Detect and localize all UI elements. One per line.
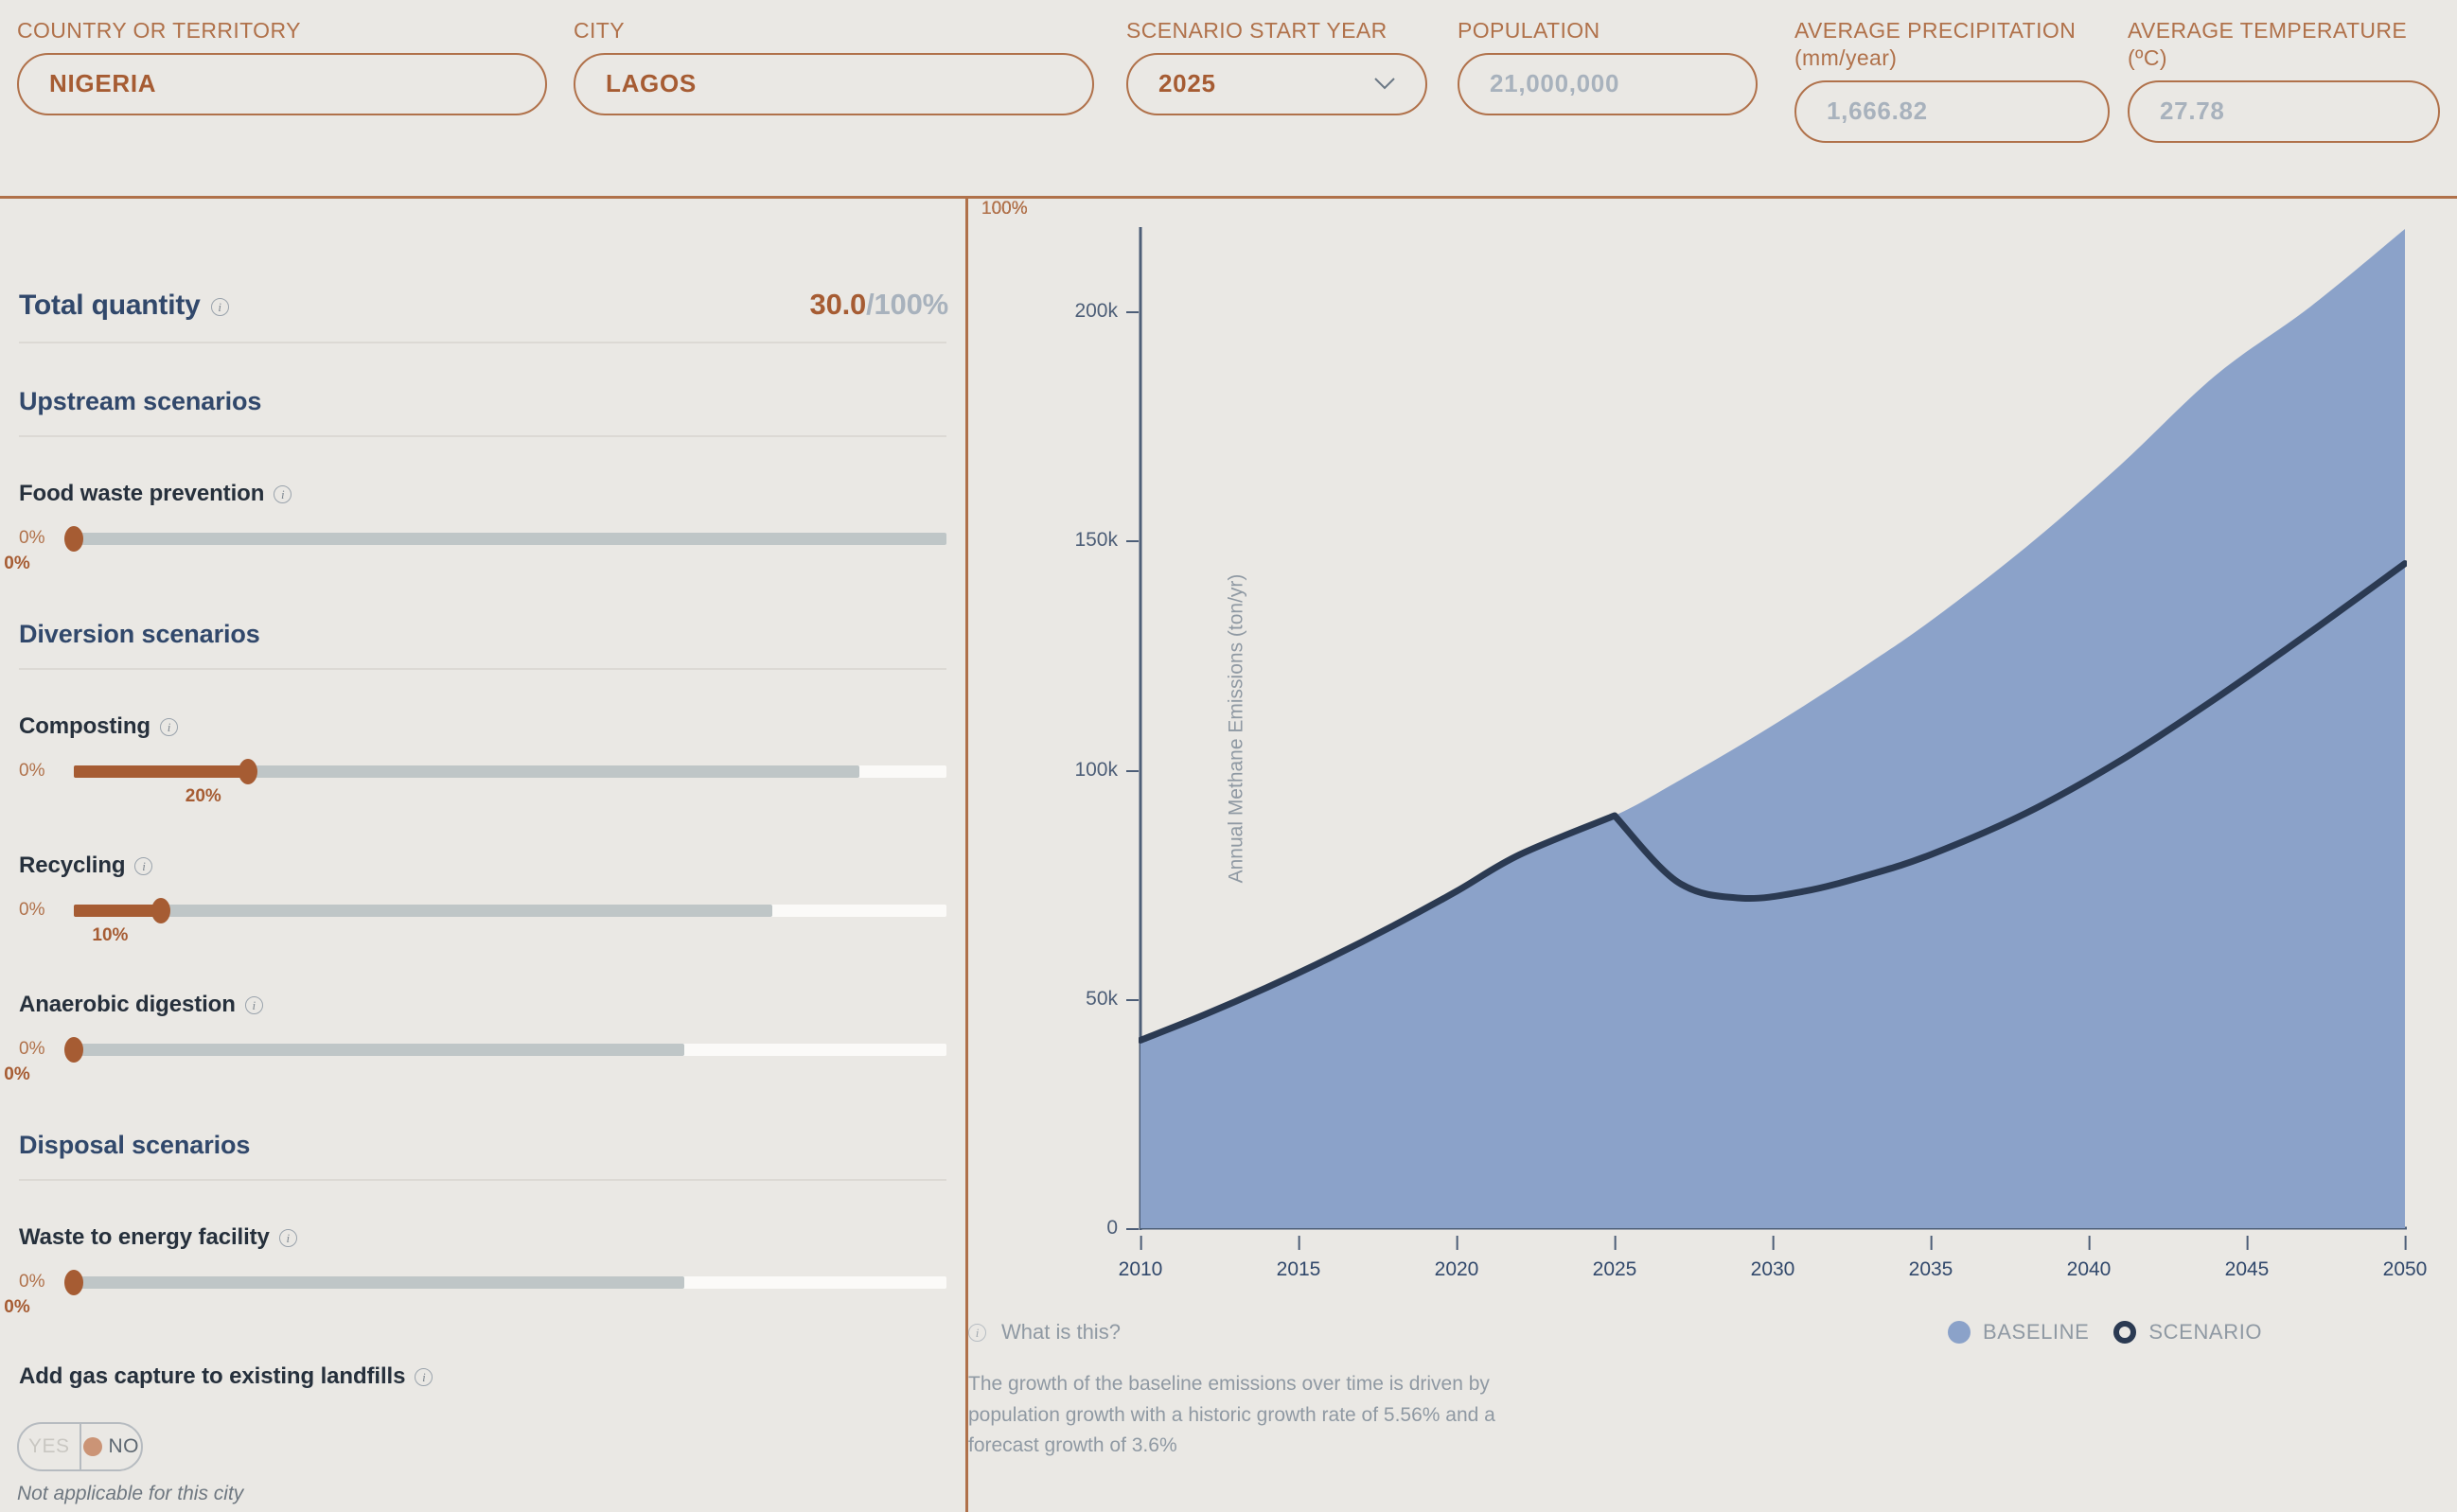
gas-capture-yes-label: YES [28,1435,70,1458]
field-average-temperature: AVERAGE TEMPERATURE (ºC) 27.78 [2128,17,2440,143]
y-tick-label: 0 [1106,1217,1139,1239]
slider-label-text: Recycling [19,853,125,879]
chart-plot-area: Annual Methane Emissions (ton/yr) 050k10… [1139,227,2407,1230]
x-tick-label: 2050 [2383,1258,2428,1281]
slider-value-recycling: 10% [17,925,948,948]
slider-label-anaerobic-digestion: Anaerobic digestion i [19,992,948,1018]
country-value: NIGERIA [49,69,156,98]
slider-track-available [74,1044,684,1056]
chart-legend: BASELINE SCENARIO [1948,1320,2262,1345]
slider-label-waste-to-energy-facility: Waste to energy facility i [19,1224,948,1251]
gas-capture-label-text: Add gas capture to existing landfills [19,1363,405,1390]
total-quantity-max: /100% [866,288,948,321]
field-label-average-temperature: AVERAGE TEMPERATURE (ºC) [2128,17,2440,72]
slider-waste-to-energy-facility[interactable]: 0% 100% [17,1272,948,1292]
field-city: CITY LAGOS [574,17,1094,115]
slider-anaerobic-digestion[interactable]: 0% 100% [17,1039,948,1060]
slider-track-available [74,1276,684,1289]
y-tick-label: 150k [1074,529,1139,552]
legend-label-baseline: BASELINE [1983,1320,2089,1345]
y-tick-label: 100k [1074,759,1139,782]
slider-track-fill [74,905,161,917]
city-value: LAGOS [606,69,697,98]
scenario-controls-panel: Total quantity i 30.0/100% Upstream scen… [0,199,965,1512]
divider [19,435,946,437]
total-quantity-label: Total quantity [19,290,201,322]
chart-explanation-block: i What is this? The growth of the baseli… [968,1320,1631,1462]
legend-label-scenario: SCENARIO [2148,1320,2262,1345]
population-value: 21,000,000 [1490,69,1619,98]
field-population: POPULATION 21,000,000 [1458,17,1758,115]
what-is-this-label: What is this? [1001,1320,1121,1345]
chart-svg [1139,227,2407,1230]
slider-min-label: 0% [19,900,74,921]
info-icon[interactable]: i [211,298,229,316]
total-quantity-values: 30.0/100% [810,288,948,322]
x-tick-label: 2010 [1119,1258,1163,1281]
slider-track[interactable] [74,900,946,921]
slider-recycling[interactable]: 0% 100% [17,900,948,921]
slider-track-available [74,533,946,545]
field-label-population: POPULATION [1458,17,1758,44]
field-scenario-start-year: SCENARIO START YEAR 2025 [1126,17,1427,115]
slider-label-recycling: Recycling i [19,853,948,879]
x-tick-label: 2040 [2067,1258,2112,1281]
legend-item-scenario[interactable]: SCENARIO [2113,1320,2262,1345]
slider-label-text: Waste to energy facility [19,1224,270,1251]
slider-composting[interactable]: 0% 100% [17,761,948,782]
legend-swatch-scenario-icon [2113,1321,2136,1344]
chevron-down-icon [1374,78,1395,90]
slider-label-text: Anaerobic digestion [19,992,236,1018]
slider-thumb[interactable] [64,1270,83,1295]
info-icon[interactable]: i [245,996,263,1014]
gas-capture-note: Not applicable for this city [17,1483,948,1505]
top-filter-bar: COUNTRY OR TERRITORY NIGERIA CITY LAGOS … [0,0,2457,199]
slider-value-anaerobic-digestion: 0% [17,1064,948,1087]
info-icon: i [968,1324,986,1342]
section-title-diversion: Diversion scenarios [19,620,948,649]
slider-thumb[interactable] [64,526,83,552]
y-tick-label: 200k [1074,300,1139,323]
slider-thumb[interactable] [151,898,170,923]
field-country: COUNTRY OR TERRITORY NIGERIA [17,17,547,115]
x-tick-label: 2030 [1751,1258,1795,1281]
slider-track[interactable] [74,1272,946,1292]
average-temperature-value-box: 27.78 [2128,80,2440,143]
legend-swatch-baseline-icon [1948,1321,1971,1344]
slider-label-composting: Composting i [19,713,948,740]
gas-capture-option-yes[interactable]: YES [19,1424,80,1469]
slider-label-text: Composting [19,713,150,740]
slider-track[interactable] [74,761,946,782]
info-icon[interactable]: i [415,1368,433,1386]
slider-track-available [74,905,772,917]
gas-capture-option-no[interactable]: NO [80,1424,142,1469]
selected-dot-icon [83,1437,102,1456]
x-tick-label: 2015 [1277,1258,1321,1281]
total-quantity-current: 30.0 [810,288,867,321]
chart-explanation-text: The growth of the baseline emissions ove… [968,1369,1498,1462]
average-precipitation-value: 1,666.82 [1827,97,1928,126]
field-average-precipitation: AVERAGE PRECIPITATION (mm/year) 1,666.82 [1794,17,2110,143]
slider-value-text: 0% [4,1297,29,1318]
field-label-scenario-start-year: SCENARIO START YEAR [1126,17,1427,44]
slider-track-fill [74,765,248,778]
gas-capture-label: Add gas capture to existing landfills i [19,1363,948,1390]
x-tick-label: 2025 [1593,1258,1637,1281]
scenario-start-year-select[interactable]: 2025 [1126,53,1427,115]
main-body: Total quantity i 30.0/100% Upstream scen… [0,199,2457,1512]
x-tick-label: 2045 [2225,1258,2270,1281]
slider-thumb[interactable] [239,759,257,784]
info-icon[interactable]: i [134,857,152,875]
emissions-chart-panel: Annual Methane Emissions (ton/yr) 050k10… [968,199,2457,1512]
divider [19,668,946,670]
y-tick-label: 50k [1086,988,1139,1011]
slider-label-text: Food waste prevention [19,481,264,507]
slider-thumb[interactable] [64,1037,83,1063]
info-icon[interactable]: i [160,718,178,736]
city-select[interactable]: LAGOS [574,53,1094,115]
slider-min-label: 0% [19,761,74,782]
gas-capture-no-label: NO [109,1435,140,1458]
field-label-city: CITY [574,17,1094,44]
baseline-area [1140,229,2405,1228]
divider [19,342,946,343]
slider-value-composting: 20% [17,786,948,809]
section-title-upstream: Upstream scenarios [19,387,948,416]
population-value-box: 21,000,000 [1458,53,1758,115]
average-precipitation-value-box: 1,666.82 [1794,80,2110,143]
field-label-country: COUNTRY OR TERRITORY [17,17,547,44]
legend-item-baseline[interactable]: BASELINE [1948,1320,2089,1345]
gas-capture-toggle[interactable]: YES NO [17,1422,143,1471]
x-tick-label: 2035 [1909,1258,1953,1281]
field-label-average-precipitation: AVERAGE PRECIPITATION (mm/year) [1794,17,2110,72]
slider-track[interactable] [74,528,946,549]
what-is-this-toggle[interactable]: i What is this? [968,1320,1631,1345]
slider-label-food-waste-prevention: Food waste prevention i [19,481,948,507]
country-select[interactable]: NIGERIA [17,53,547,115]
section-title-disposal: Disposal scenarios [19,1131,948,1160]
scenario-start-year-value: 2025 [1158,69,1216,98]
slider-value-text: 10% [92,925,128,946]
slider-value-food-waste-prevention: 0% [17,554,948,576]
slider-food-waste-prevention[interactable]: 0% 100% [17,528,948,549]
info-icon[interactable]: i [279,1229,297,1247]
x-tick-label: 2020 [1435,1258,1479,1281]
slider-value-waste-to-energy-facility: 0% [17,1297,948,1320]
info-icon[interactable]: i [274,485,292,503]
slider-value-text: 0% [4,554,29,574]
total-quantity-row: Total quantity i 30.0/100% [17,288,948,322]
divider [19,1179,946,1181]
slider-value-text: 0% [4,1064,29,1085]
slider-track[interactable] [74,1039,946,1060]
slider-value-text: 20% [186,786,221,807]
average-temperature-value: 27.78 [2160,97,2225,126]
